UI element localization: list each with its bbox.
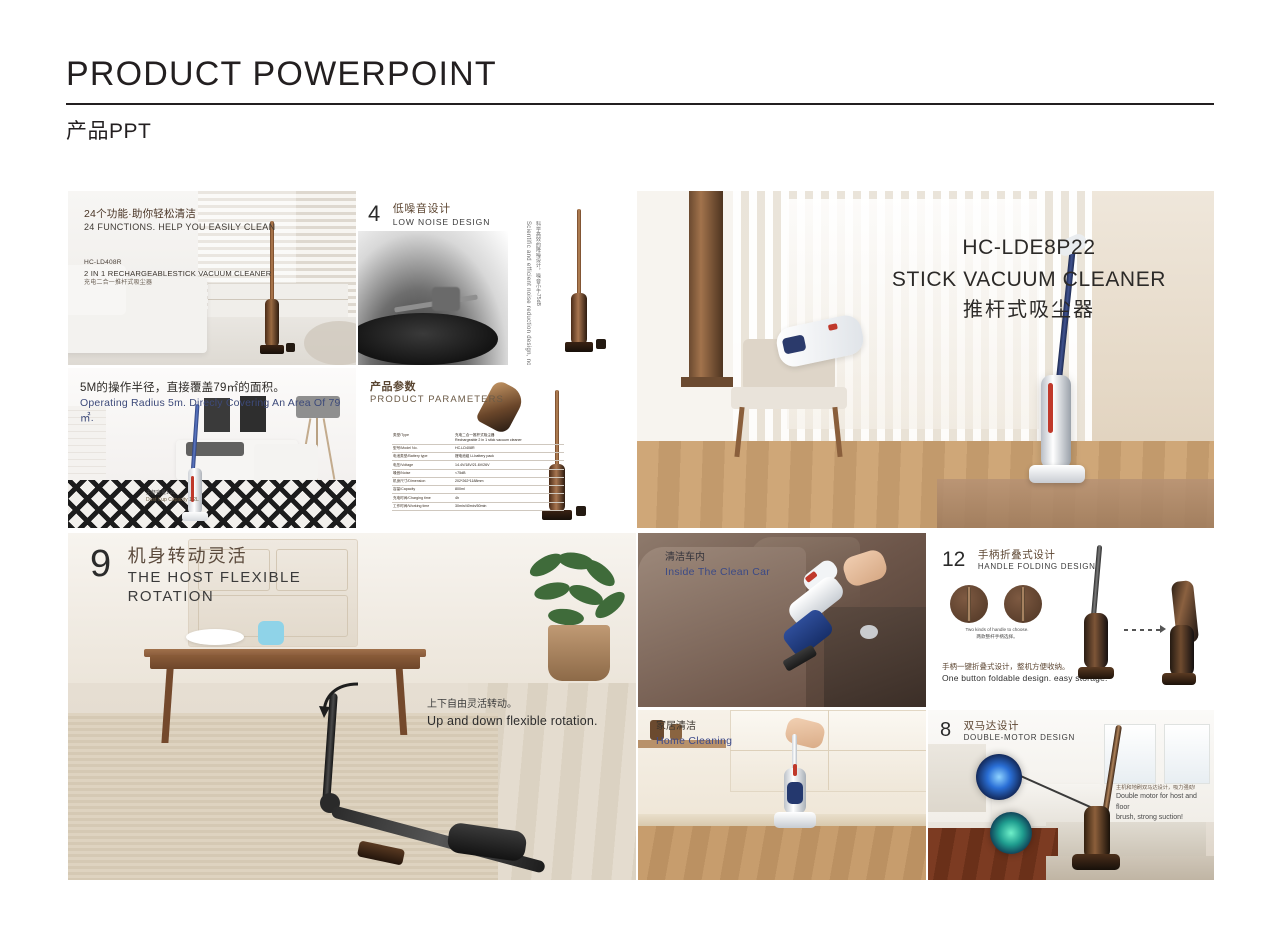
handle-title-block: 12 手柄折叠式设计 HANDLE FOLDING DESIGN — [942, 549, 1096, 573]
table-row: 工作时间/Working time 30min/40min/50min — [392, 502, 564, 510]
panel-inside-clean-car[interactable]: 清洁车内 Inside The Clean Car — [638, 533, 926, 707]
motor-step-number: 8 — [940, 720, 951, 740]
vacuum-folded — [1164, 581, 1204, 691]
plant-leaf — [533, 579, 572, 602]
parameters-table-body: 类型/Type 充电二合一推杆式吸尘器 Rechargeable 2 in 1 … — [392, 432, 564, 510]
car-title-cn: 清洁车内 — [665, 551, 770, 565]
noise-vertical-cn: 科学高效的降噪设计，噪音小于75dB — [534, 221, 541, 306]
handle-title-cn: 手柄折叠式设计 — [978, 549, 1096, 562]
turntable-cartridge — [432, 287, 460, 311]
rotation-note-cn: 上下自由灵活转动。 — [427, 697, 598, 712]
rotation-title-en-2: ROTATION — [128, 587, 302, 607]
vacuum-floor-head — [1029, 465, 1085, 483]
armchair-seat — [731, 387, 847, 409]
wood-column — [689, 191, 723, 381]
vacuum-floor-head — [260, 345, 284, 354]
home-caption: 家居清洁 Home Cleaning — [656, 720, 732, 749]
vacuum-body — [571, 293, 587, 345]
handle-options-caption: Two kinds of handle to choose. 两款整杆手柄选择。 — [942, 627, 1052, 641]
motor-note-cn: 主机和地刷双马达设计，吸力强劲! — [1116, 784, 1212, 792]
vacuum-floor-head — [565, 342, 593, 352]
plant-leaf — [547, 607, 584, 627]
slide-canvas: PRODUCT POWERPOINT 产品PPT 24个功能·助你轻松清洁 24… — [0, 0, 1280, 944]
plant-leaf — [581, 555, 619, 590]
panel-hero-product[interactable]: HC-LDE8P22 STICK VACUUM CLEANER 推杆式吸尘器 — [637, 191, 1214, 528]
param-value: 14.4V/18V/21.6V/26V — [454, 461, 564, 469]
rotation-arrow-icon — [318, 680, 362, 720]
param-key: 电压/Voltage — [392, 461, 454, 469]
panel-product-parameters[interactable]: 产品参数 PRODUCT PARAMETERS 类型/Type 充电二合一推杆式… — [358, 368, 636, 528]
vacuum-unfolded — [1080, 545, 1114, 689]
motor-note: 主机和地刷双马达设计，吸力强劲! Double motor for host a… — [1116, 784, 1212, 824]
handle-option-circle-1 — [950, 585, 988, 623]
param-key: 电池类型/Battery type — [392, 453, 454, 461]
table-row: 电池类型/Battery type 锂电池组 Li-battery pack — [392, 453, 564, 461]
plate — [186, 629, 244, 645]
radius-headline: 5M的操作半径，直接覆盖79㎡的面积。 Operating Radius 5m.… — [80, 380, 356, 425]
blue-ornament — [258, 621, 284, 645]
motor-title-block: 8 双马达设计 DOUBLE-MOTOR DESIGN — [940, 720, 1075, 744]
dust-cup-note-en: Dust Cup Capacity 1.2L — [146, 497, 199, 504]
table-row: 电压/Voltage 14.4V/18V/21.6V/26V — [392, 461, 564, 469]
panel-double-motor[interactable]: 8 双马达设计 DOUBLE-MOTOR DESIGN 主机和地刷双马达设计，吸… — [928, 710, 1214, 880]
dust-cup-note-cn: 尘杯容量1.2L — [146, 490, 199, 497]
noise-title-en: LOW NOISE DESIGN — [393, 217, 491, 228]
host-motor-closeup — [976, 754, 1022, 800]
vacuum-floor-head — [1078, 667, 1114, 679]
motor-note-en-2: brush, strong suction! — [1116, 813, 1212, 824]
vacuum-body — [446, 822, 527, 863]
noise-title-text: 低噪音设计 LOW NOISE DESIGN — [393, 203, 491, 228]
sofa-secondary — [254, 444, 318, 482]
handle-option-circle-2 — [1004, 585, 1042, 623]
param-key: 容量/Capacity — [392, 486, 454, 494]
vacuum-floor-head — [1072, 854, 1120, 870]
param-key: 工作时间/Working time — [392, 502, 454, 510]
handle-step-number: 12 — [942, 549, 965, 570]
handheld-red-accent — [828, 323, 838, 331]
vacuum-floor-head — [182, 512, 208, 521]
panel-operating-radius[interactable]: 5M的操作半径，直接覆盖79㎡的面积。 Operating Radius 5m.… — [68, 368, 356, 528]
vacuum-floor-head — [542, 510, 572, 520]
panel-handle-folding[interactable]: 12 手柄折叠式设计 HANDLE FOLDING DESIGN Two kin… — [928, 533, 1214, 707]
motor-title-text: 双马达设计 DOUBLE-MOTOR DESIGN — [964, 720, 1075, 744]
page-title: PRODUCT POWERPOINT — [66, 55, 1214, 94]
hero-model: HC-LDE8P22 — [864, 232, 1194, 264]
param-value: <75dB — [454, 469, 564, 477]
home-title-en: Home Cleaning — [656, 734, 732, 749]
rotation-title-block: 9 机身转动灵活 THE HOST FLEXIBLE ROTATION — [90, 545, 301, 607]
vacuum-pole — [577, 209, 581, 305]
param-value: HC-LD408R — [454, 444, 564, 452]
panel-home-cleaning[interactable]: 家居清洁 Home Cleaning — [638, 710, 926, 880]
param-key: 噪音/Noise — [392, 469, 454, 477]
slide-header: PRODUCT POWERPOINT 产品PPT — [66, 55, 1214, 145]
param-value-en: Rechargeable 2 in 1 stick vacuum cleaner — [455, 438, 563, 442]
area-rug — [937, 479, 1214, 528]
motor-title-cn: 双马达设计 — [964, 720, 1075, 733]
rotation-title-text: 机身转动灵活 THE HOST FLEXIBLE ROTATION — [128, 545, 302, 607]
coffee-table-apron — [150, 655, 420, 669]
functions-model-cn: 充电二合一推杆式吸尘器 — [84, 279, 271, 288]
param-value: 4h — [454, 494, 564, 502]
param-value: 30min/40min/50min — [454, 502, 564, 510]
window-right — [1164, 724, 1210, 784]
vacuum-illustration — [570, 209, 588, 359]
param-key: 类型/Type — [392, 432, 454, 444]
handle-title-en: HANDLE FOLDING DESIGN — [978, 562, 1096, 572]
param-key: 充电时间/Charging time — [392, 494, 454, 502]
vacuum-body — [1041, 375, 1071, 469]
charging-dock — [576, 506, 586, 516]
charging-dock — [596, 339, 606, 349]
vacuum-red-stripe — [1048, 383, 1053, 433]
handle-sub-cn: 两款整杆手柄选择。 — [942, 634, 1052, 641]
area-rug — [1046, 822, 1206, 856]
param-value: 充电二合一推杆式吸尘器 Rechargeable 2 in 1 stick va… — [454, 432, 564, 444]
rotation-step-number: 9 — [90, 545, 111, 583]
vacuum-body — [265, 299, 279, 347]
parameters-title-en: PRODUCT PARAMETERS — [370, 394, 504, 405]
vacuum-floor-head — [357, 840, 405, 865]
handheld-dust-tank — [782, 334, 807, 354]
header-divider — [66, 103, 1214, 105]
functions-headline: 24个功能·助你轻松清洁 24 FUNCTIONS. HELP YOU EASI… — [84, 207, 275, 233]
radius-headline-cn: 5M的操作半径，直接覆盖79㎡的面积。 — [80, 380, 356, 396]
hero-name-cn: 推杆式吸尘器 — [864, 295, 1194, 325]
page-subtitle: 产品PPT — [66, 115, 1214, 145]
rotation-title-en-1: THE HOST FLEXIBLE — [128, 568, 302, 588]
vacuum-dust-tank — [787, 782, 803, 804]
vacuum-body — [1084, 613, 1108, 669]
armchair-leg-left — [734, 407, 744, 457]
vacuum-illustration — [264, 221, 280, 357]
handle-sub-en: Two kinds of handle to choose. — [942, 627, 1052, 634]
param-key: 型号/Model No. — [392, 444, 454, 452]
handle-option-2-icon — [1021, 587, 1025, 621]
functions-headline-cn: 24个功能·助你轻松清洁 — [84, 207, 275, 221]
motor-title-en: DOUBLE-MOTOR DESIGN — [964, 733, 1075, 744]
noise-title-cn: 低噪音设计 — [393, 203, 491, 217]
vacuum-floor-head — [1162, 673, 1196, 685]
potted-plant-foliage — [520, 553, 636, 633]
rotation-note-en: Up and down flexible rotation. — [427, 712, 598, 731]
floor-brush-motor-closeup — [990, 812, 1032, 854]
parameters-title-block: 产品参数 PRODUCT PARAMETERS — [370, 378, 504, 405]
noise-vertical-en: Scientific and efficient noise reduction… — [524, 221, 532, 365]
param-value: 202*262*1188mm — [454, 477, 564, 485]
vacuum-floor-head — [774, 812, 816, 828]
panel-low-noise[interactable]: 4 低噪音设计 LOW NOISE DESIGN 科学高效的降噪设计，噪音小于7… — [358, 191, 636, 365]
functions-model-en: 2 IN 1 RECHARGEABLESTICK VACUUM CLEANER — [84, 268, 271, 279]
home-title-cn: 家居清洁 — [656, 720, 732, 734]
panel-24-functions[interactable]: 24个功能·助你轻松清洁 24 FUNCTIONS. HELP YOU EASI… — [68, 191, 356, 365]
rotation-note: 上下自由灵活转动。 Up and down flexible rotation. — [427, 697, 598, 731]
dust-cup-note: 尘杯容量1.2L Dust Cup Capacity 1.2L — [146, 490, 199, 504]
plant-pot — [548, 625, 610, 681]
param-value: 锂电池组 Li-battery pack — [454, 453, 564, 461]
param-key: 机身尺寸/Dimension — [392, 477, 454, 485]
charging-dock — [286, 343, 295, 352]
functions-headline-en: 24 FUNCTIONS. HELP YOU EASILY CLEAN — [84, 221, 275, 233]
parameters-table: 类型/Type 充电二合一推杆式吸尘器 Rechargeable 2 in 1 … — [392, 432, 564, 511]
motor-note-en-1: Double motor for host and floor — [1116, 792, 1212, 813]
hero-caption: HC-LDE8P22 STICK VACUUM CLEANER 推杆式吸尘器 — [864, 232, 1194, 325]
kitchen-cabinet-line-v — [828, 710, 829, 790]
functions-model-block: HC-LD408R 2 IN 1 RECHARGEABLESTICK VACUU… — [84, 258, 271, 288]
table-row: 机身尺寸/Dimension 202*262*1188mm — [392, 477, 564, 485]
handle-title-text: 手柄折叠式设计 HANDLE FOLDING DESIGN — [978, 549, 1096, 573]
car-title-en: Inside The Clean Car — [665, 565, 770, 580]
table-row: 充电时间/Charging time 4h — [392, 494, 564, 502]
hero-name-en: STICK VACUUM CLEANER — [864, 264, 1194, 296]
vacuum-pole — [1091, 545, 1102, 619]
vacuum-red-stripe — [793, 764, 797, 776]
patterned-rug — [68, 480, 356, 528]
vacuum-body — [1170, 625, 1194, 677]
functions-model: HC-LD408R — [84, 258, 271, 268]
noise-step-number: 4 — [368, 203, 380, 225]
noise-title-block: 4 低噪音设计 LOW NOISE DESIGN — [368, 203, 490, 228]
table-row: 型号/Model No. HC-LD408R — [392, 444, 564, 452]
rotation-title-cn: 机身转动灵活 — [128, 545, 302, 568]
fold-arrow-line — [1124, 629, 1160, 631]
radius-headline-en: Operating Radius 5m. Direcly Covering An… — [80, 396, 356, 425]
table-row: 容量/Capacity 800ml — [392, 486, 564, 494]
parameters-title-cn: 产品参数 — [370, 378, 504, 394]
vacuum-body — [1084, 806, 1110, 860]
table-row: 噪音/Noise <75dB — [392, 469, 564, 477]
car-caption: 清洁车内 Inside The Clean Car — [665, 551, 770, 580]
table-row: 类型/Type 充电二合一推杆式吸尘器 Rechargeable 2 in 1 … — [392, 432, 564, 444]
handle-option-1-icon — [967, 587, 971, 621]
armchair-leg-right — [832, 407, 842, 457]
stick-vacuum — [776, 734, 812, 850]
param-value: 800ml — [454, 486, 564, 494]
